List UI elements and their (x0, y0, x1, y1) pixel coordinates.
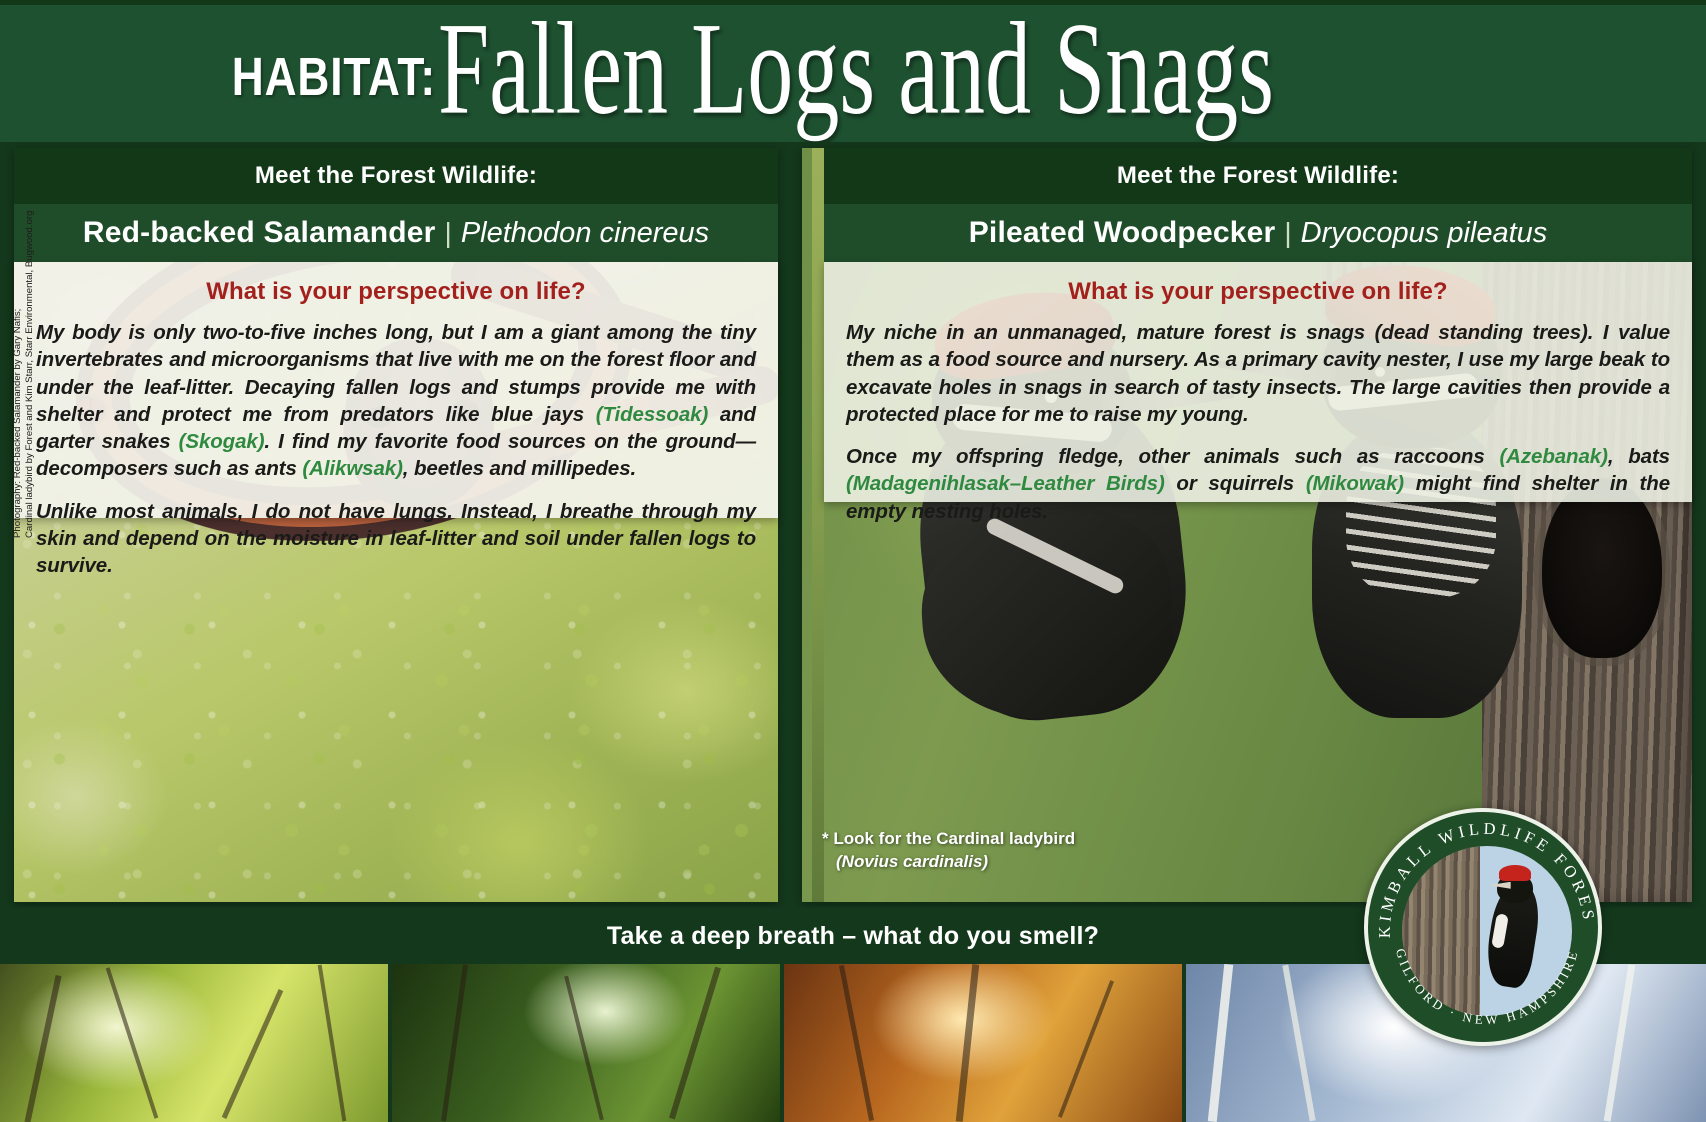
meet-wildlife-bar-left: Meet the Forest Wildlife: (14, 148, 778, 204)
species-common-name-left: Red-backed Salamander (83, 216, 436, 250)
abenaki-name: (Tidessoak) (596, 403, 708, 426)
abenaki-name: (Alikwsak) (302, 457, 402, 480)
season-photo-spring (0, 964, 388, 1122)
abenaki-name: (Madagenihlasak–Leather Birds) (846, 472, 1165, 495)
habitat-eyebrow: HABITAT: (231, 46, 435, 108)
species-divider-left: | (445, 217, 452, 249)
panel-red-backed-salamander: Meet the Forest Wildlife: Red-backed Sal… (14, 148, 778, 902)
panels-area: Meet the Forest Wildlife: Red-backed Sal… (0, 142, 1706, 908)
salamander-textbox: What is your perspective on life? My bod… (14, 262, 778, 518)
header-banner: HABITAT: Fallen Logs and Snags (0, 0, 1706, 142)
salamander-paragraph-2: Unlike most animals, I do not have lungs… (36, 498, 756, 580)
species-divider-right: | (1284, 217, 1291, 249)
abenaki-name: (Azebanak) (1499, 445, 1607, 468)
body-text: Unlike most animals, I do not have lungs… (36, 500, 756, 578)
kimball-wildlife-forest-seal: KIMBALL WILDLIFE FOREST GILFORD · NEW HA… (1364, 808, 1602, 1046)
salamander-paragraph-1: My body is only two-to-five inches long,… (36, 319, 756, 483)
abenaki-name: (Mikowak) (1306, 472, 1404, 495)
species-bar-right: Pileated Woodpecker | Dryocopus pileatus (824, 204, 1692, 262)
photography-credit: Photography: Red-backed Salamander by Ga… (12, 178, 37, 538)
season-photo-summer (392, 964, 780, 1122)
body-text: , bats (1608, 445, 1670, 468)
species-latin-name-right: Dryocopus pileatus (1301, 217, 1548, 250)
question-heading-left: What is your perspective on life? (36, 278, 756, 306)
ladybird-footnote: * Look for the Cardinal ladybird (Novius… (822, 828, 1075, 874)
body-text: , beetles and millipedes. (403, 457, 636, 480)
meet-wildlife-label-right: Meet the Forest Wildlife: (1117, 162, 1399, 190)
question-heading-right: What is your perspective on life? (846, 278, 1670, 306)
body-text: or squirrels (1165, 472, 1306, 495)
abenaki-name: (Skogak) (179, 430, 265, 453)
ladybird-footnote-line-1: * Look for the Cardinal ladybird (822, 829, 1075, 848)
interpretive-sign: HABITAT: Fallen Logs and Snags Meet the … (0, 0, 1706, 1122)
season-photo-autumn (784, 964, 1182, 1122)
meet-wildlife-bar-right: Meet the Forest Wildlife: (824, 148, 1692, 204)
species-common-name-right: Pileated Woodpecker (969, 216, 1276, 250)
woodpecker-paragraph-1: My niche in an unmanaged, mature forest … (846, 319, 1670, 428)
footer-prompt-text: Take a deep breath – what do you smell? (607, 922, 1099, 951)
seal-bottom-text: GILFORD · NEW HAMPSHIRE (1393, 947, 1581, 1027)
page-title: Fallen Logs and Snags (438, 3, 1274, 135)
body-text: Once my offspring fledge, other animals … (846, 445, 1499, 468)
seal-top-text: KIMBALL WILDLIFE FOREST (1368, 812, 1599, 938)
photography-credit-line-1: Photography: Red-backed Salamander by Ga… (12, 178, 24, 538)
meet-wildlife-label-left: Meet the Forest Wildlife: (255, 162, 537, 190)
species-bar-left: Red-backed Salamander | Plethodon cinere… (14, 204, 778, 262)
panel-pileated-woodpecker: Meet the Forest Wildlife: Pileated Woodp… (812, 148, 1692, 902)
panel-left-accent-strip (812, 148, 824, 902)
photography-credit-line-2: Cardinal ladybird by Forest and Kim Star… (24, 178, 36, 538)
ladybird-footnote-line-2: (Novius cardinalis) (822, 851, 1075, 874)
woodpecker-textbox: What is your perspective on life? My nic… (824, 262, 1692, 502)
body-text: My niche in an unmanaged, mature forest … (846, 321, 1670, 426)
species-latin-name-left: Plethodon cinereus (461, 217, 709, 250)
seal-arc-text: KIMBALL WILDLIFE FOREST GILFORD · NEW HA… (1368, 812, 1602, 1046)
woodpecker-paragraph-2: Once my offspring fledge, other animals … (846, 443, 1670, 525)
